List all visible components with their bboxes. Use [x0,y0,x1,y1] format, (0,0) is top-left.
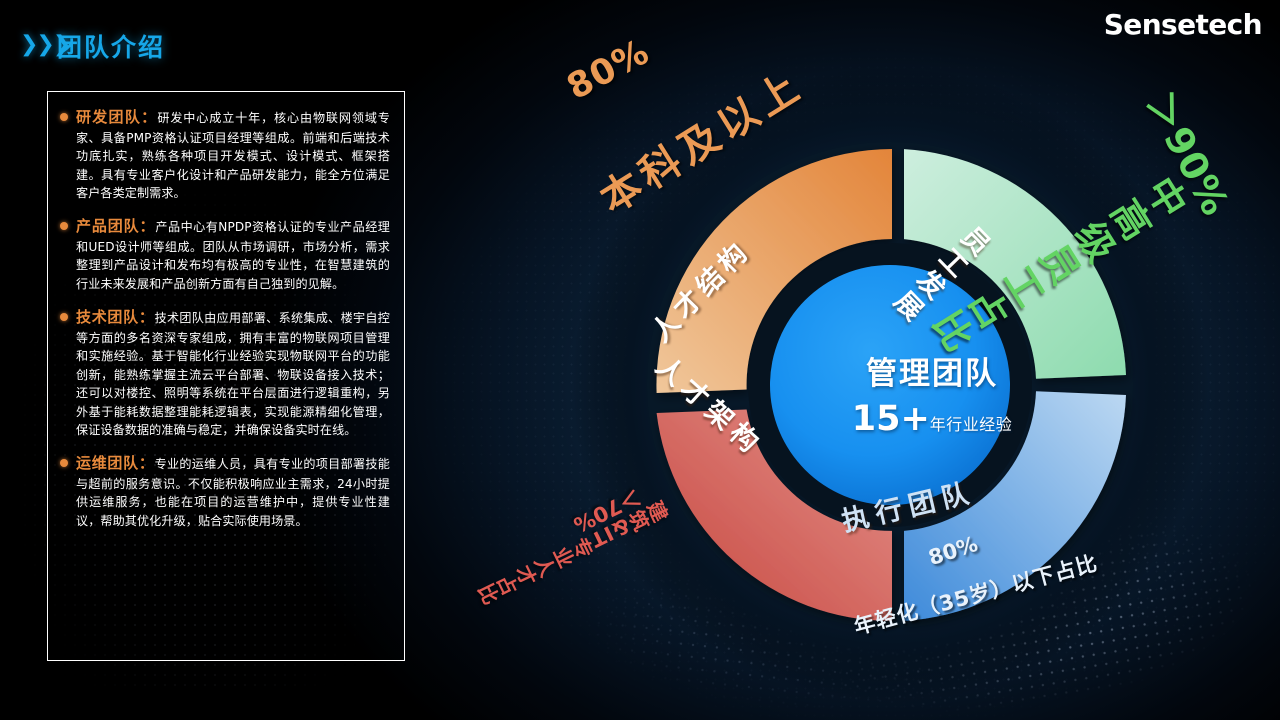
list-item-text: 运维团队：专业的运维人员，具有专业的项目部署技能与超前的服务意识。不仅能积极响应… [76,452,390,530]
list-item-label: 研发团队 [76,108,141,126]
list-item: 技术团队：技术团队由应用部署、系统集成、楼宇自控等方面的多名资深专家组成，拥有丰… [60,306,390,439]
list-item-separator: ： [139,454,155,472]
list-item-text: 产品团队：产品中心有NPDP资格认证的专业产品经理和UED设计师等组成。团队从市… [76,215,390,293]
bullet-dot-icon [60,313,68,321]
list-item: 产品团队：产品中心有NPDP资格认证的专业产品经理和UED设计师等组成。团队从市… [60,215,390,293]
list-item: 运维团队：专业的运维人员，具有专业的项目部署技能与超前的服务意识。不仅能积极响应… [60,452,390,530]
list-item-label: 技术团队 [76,308,139,326]
bullet-dot-icon [60,222,68,230]
list-item: 研发团队：研发中心成立十年，核心由物联网领域专家、具备PMP资格认证项目经理等组… [60,106,390,202]
slide-root: ❯❯❯ 团队介绍 Sensetech 研发团队：研发中心成立十年，核心由物联网领… [0,0,1280,720]
donut-svg [540,55,1240,715]
team-description-panel: 研发团队：研发中心成立十年，核心由物联网领域专家、具备PMP资格认证项目经理等组… [47,91,405,661]
list-item-text: 研发团队：研发中心成立十年，核心由物联网领域专家、具备PMP资格认证项目经理等组… [76,106,390,202]
list-item-separator: ： [140,217,156,235]
team-donut-chart: 管理团队 15+年行业经验 人才结构 80% 本科及以上 员工发展 ＞90% 中… [540,55,1240,715]
bullet-dot-icon [60,113,68,121]
page-title: 团队介绍 [57,28,165,64]
list-item-label: 运维团队 [76,454,139,472]
list-item-separator: ： [139,308,155,326]
list-item-separator: ： [141,108,157,126]
bullet-dot-icon [60,459,68,467]
list-item-body: 技术团队由应用部署、系统集成、楼宇自控等方面的多名资深专家组成，拥有丰富的物联网… [76,311,390,437]
list-item-label: 产品团队 [76,217,140,235]
brand-logo: Sensetech [1104,8,1262,41]
list-item-text: 技术团队：技术团队由应用部署、系统集成、楼宇自控等方面的多名资深专家组成，拥有丰… [76,306,390,439]
donut-center-circle[interactable] [770,265,1010,505]
